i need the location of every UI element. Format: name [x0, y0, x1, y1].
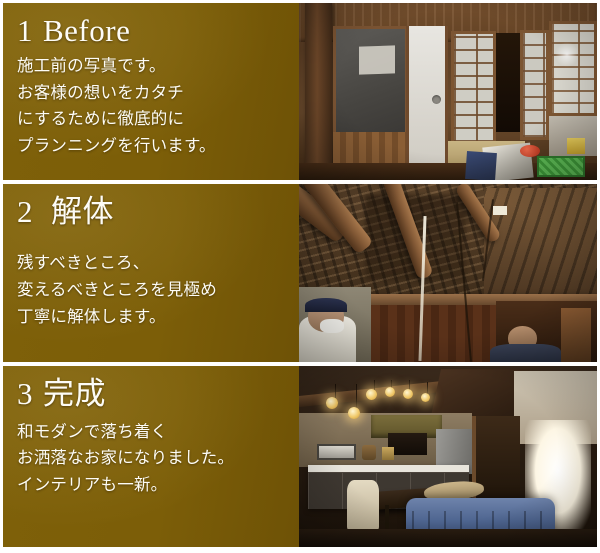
step-1-body-line-3: にするために徹底的に [17, 106, 289, 133]
photo1-wood-post [305, 3, 332, 180]
step-3-heading: 3 完成 [17, 375, 289, 413]
photo2-worker-right-body [490, 344, 562, 362]
photo1-paper-note [359, 45, 395, 75]
photo3-dining-chair [347, 480, 380, 531]
photo1-yellow-object [567, 138, 585, 154]
step-3-body-line-3: インテリアも一新。 [17, 472, 289, 499]
photo2-paper-tag [493, 206, 507, 215]
step-2-photo-panel [299, 184, 597, 361]
photo3-kettle [362, 445, 377, 460]
step-2-body: 残すべきところ、 変えるべきところを見極め 丁寧に解体します。 [17, 250, 289, 330]
photo2-wood-plank-wall [371, 305, 496, 362]
step-3-caption-panel: 3 完成 和モダンで落ち着く お洒落なお家になりました。 インテリアも一新。 [3, 366, 299, 547]
step-1-body-line-4: プランニングを行います。 [17, 133, 289, 160]
photo1-dark-hallway [496, 33, 523, 132]
step-2-body-line-1: 残すべきところ、 [17, 250, 289, 277]
photo1-shoji-screen-left [451, 31, 496, 145]
step-2-body-line-3: 丁寧に解体します。 [17, 304, 289, 331]
renovation-steps-board: 1 Before 施工前の写真です。 お客様の想いをカタチ にするために徹底的に… [0, 0, 600, 553]
step-row-2: 2 解体 残すべきところ、 変えるべきところを見極め 丁寧に解体します。 [3, 184, 597, 361]
step-2-heading: 2 解体 [17, 193, 289, 231]
step-row-1: 1 Before 施工前の写真です。 お客様の想いをカタチ にするために徹底的に… [3, 3, 597, 180]
step-1-photo-panel [299, 3, 597, 180]
photo2-worker-face-mask [320, 319, 344, 333]
photo1-window-glare [555, 42, 579, 67]
photo3-pendant-wire-1 [335, 384, 336, 399]
step-1-body: 施工前の写真です。 お客様の想いをカタチ にするために徹底的に プランニングを行… [17, 53, 289, 160]
step-row-3: 3 完成 和モダンで落ち着く お洒落なお家になりました。 インテリアも一新。 [3, 366, 597, 547]
photo3-pendant-light-1 [326, 397, 338, 409]
photo3-pendant-wire-2 [356, 384, 357, 409]
after-photo [299, 366, 597, 547]
step-3-body-line-2: お洒落なお家になりました。 [17, 445, 289, 472]
photo3-jar [382, 447, 394, 460]
photo1-door-knob [432, 95, 441, 104]
photo1-dark-bag [465, 151, 497, 180]
photo3-microwave [317, 444, 356, 460]
photo3-pendant-light-6 [421, 393, 430, 402]
demolition-photo [299, 184, 597, 361]
step-1-title: Before [43, 12, 130, 50]
step-3-number: 3 [17, 375, 43, 413]
step-3-body: 和モダンで落ち着く お洒落なお家になりました。 インテリアも一新。 [17, 419, 289, 499]
photo1-fusuma-sliding-door [406, 26, 448, 171]
step-2-caption-panel: 2 解体 残すべきところ、 変えるべきところを見極め 丁寧に解体します。 [3, 184, 299, 361]
step-1-body-line-1: 施工前の写真です。 [17, 53, 289, 80]
step-2-title: 解体 [51, 193, 114, 231]
photo2-roof-right-slope [484, 188, 597, 298]
step-1-number: 1 [17, 12, 43, 50]
step-1-body-line-2: お客様の想いをカタチ [17, 80, 289, 107]
photo1-green-basket [537, 156, 585, 177]
before-photo [299, 3, 597, 180]
step-3-photo-panel [299, 366, 597, 547]
photo1-shoji-screen-right [520, 30, 550, 140]
photo2-right-door [561, 308, 591, 361]
step-1-caption-panel: 1 Before 施工前の写真です。 お客様の想いをカタチ にするために徹底的に… [3, 3, 299, 180]
step-2-number: 2 [17, 193, 51, 231]
step-3-body-line-1: 和モダンで落ち着く [17, 419, 289, 446]
photo2-worker-cap [305, 298, 347, 312]
step-3-title: 完成 [43, 375, 106, 413]
step-2-body-line-2: 変えるべきところを見極め [17, 277, 289, 304]
photo3-floor [299, 529, 597, 547]
step-1-heading: 1 Before [17, 12, 289, 50]
photo1-dark-glass-door [333, 26, 408, 140]
